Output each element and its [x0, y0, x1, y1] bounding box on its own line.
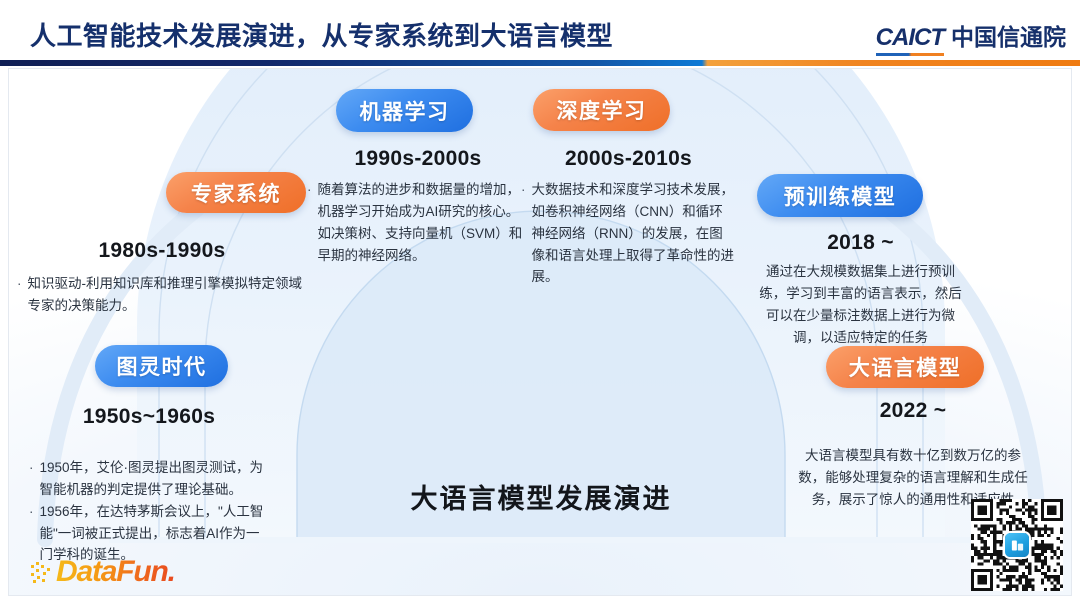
datafun-logo: DataFun.	[31, 555, 175, 589]
caict-logo-abbr: CAICT	[876, 24, 944, 56]
era-expert-system-body: · 知识驱动-利用知识库和推理引擎模拟特定领域专家的决策能力。	[17, 273, 307, 317]
pill-deep-learning-label: 深度学习	[557, 95, 647, 125]
era-deep-learning-body: · 大数据技术和深度学习技术发展，如卷积神经网络（CNN）和循环神经网络（RNN…	[521, 179, 736, 288]
era-turing-year: 1950s~1960s	[29, 405, 269, 429]
era-expert-system: 1980s-1990s · 知识驱动-利用知识库和推理引擎模拟特定领域专家的决策…	[17, 239, 307, 317]
era-machine-learning-body: · 随着算法的进步和数据量的增加，机器学习开始成为AI研究的核心。如决策树、支持…	[307, 179, 529, 266]
pill-machine-learning[interactable]: 机器学习	[336, 89, 473, 132]
wechat-glyph	[1010, 538, 1025, 553]
qr-code[interactable]	[971, 499, 1063, 591]
wechat-icon	[1005, 533, 1029, 557]
era-deep-learning-year: 2000s-2010s	[521, 147, 736, 171]
era-expert-system-year: 1980s-1990s	[17, 239, 307, 263]
datafun-dots-icon	[31, 559, 53, 585]
caict-logo-abbr-text: CAICT	[876, 24, 944, 51]
caict-logo: CAICT 中国信通院	[876, 18, 1066, 56]
pill-llm[interactable]: 大语言模型	[826, 346, 984, 388]
era-machine-learning-year: 1990s-2000s	[307, 147, 529, 171]
era-pretrained-model: 2018 ~ 通过在大规模数据集上进行预训练，学习到丰富的语言表示，然后可以在少…	[753, 227, 968, 348]
caict-logo-cn: 中国信通院	[951, 18, 1066, 56]
bullet-dot: ·	[17, 273, 22, 317]
bullet-dot: ·	[307, 179, 312, 266]
pill-pretrained-model-label: 预训练模型	[784, 181, 897, 211]
pill-llm-label: 大语言模型	[849, 352, 962, 382]
era-llm-year: 2022 ~	[793, 399, 1033, 423]
diagram-center-label: 大语言模型发展演进	[9, 477, 1072, 516]
era-machine-learning-bullet-1: 随着算法的进步和数据量的增加，机器学习开始成为AI研究的核心。如决策树、支持向量…	[318, 179, 530, 266]
pill-pretrained-model[interactable]: 预训练模型	[757, 174, 923, 217]
header-divider	[0, 60, 1080, 66]
pill-turing-label: 图灵时代	[117, 351, 207, 381]
slide-canvas: 人工智能技术发展演进，从专家系统到大语言模型 CAICT 中国信通院	[0, 0, 1080, 608]
slide-header: 人工智能技术发展演进，从专家系统到大语言模型 CAICT 中国信通院	[0, 0, 1080, 62]
pill-expert-system-label: 专家系统	[191, 178, 281, 208]
era-deep-learning-bullet-1: 大数据技术和深度学习技术发展，如卷积神经网络（CNN）和循环神经网络（RNN）的…	[532, 179, 737, 288]
era-pretrained-model-body: 通过在大规模数据集上进行预训练，学习到丰富的语言表示，然后可以在少量标注数据上进…	[753, 261, 968, 348]
era-deep-learning: 2000s-2010s · 大数据技术和深度学习技术发展，如卷积神经网络（CNN…	[521, 147, 736, 288]
content-card: 图灵时代 专家系统 机器学习 深度学习 预训练模型 大语言模型 1950s~19…	[8, 68, 1072, 596]
pill-expert-system[interactable]: 专家系统	[166, 172, 306, 213]
page-title: 人工智能技术发展演进，从专家系统到大语言模型	[30, 16, 613, 53]
datafun-wordmark: DataFun.	[56, 555, 175, 589]
era-pretrained-model-bullet-1: 通过在大规模数据集上进行预训练，学习到丰富的语言表示，然后可以在少量标注数据上进…	[759, 264, 962, 345]
bullet-dot: ·	[521, 179, 526, 288]
pill-machine-learning-label: 机器学习	[360, 96, 450, 126]
era-expert-system-bullet-1: 知识驱动-利用知识库和推理引擎模拟特定领域专家的决策能力。	[28, 273, 308, 317]
era-pretrained-model-year: 2018 ~	[753, 231, 968, 255]
caict-logo-underline	[876, 53, 944, 56]
pill-turing[interactable]: 图灵时代	[95, 345, 228, 387]
pill-deep-learning[interactable]: 深度学习	[533, 89, 670, 131]
era-machine-learning: 1990s-2000s · 随着算法的进步和数据量的增加，机器学习开始成为AI研…	[307, 147, 529, 266]
